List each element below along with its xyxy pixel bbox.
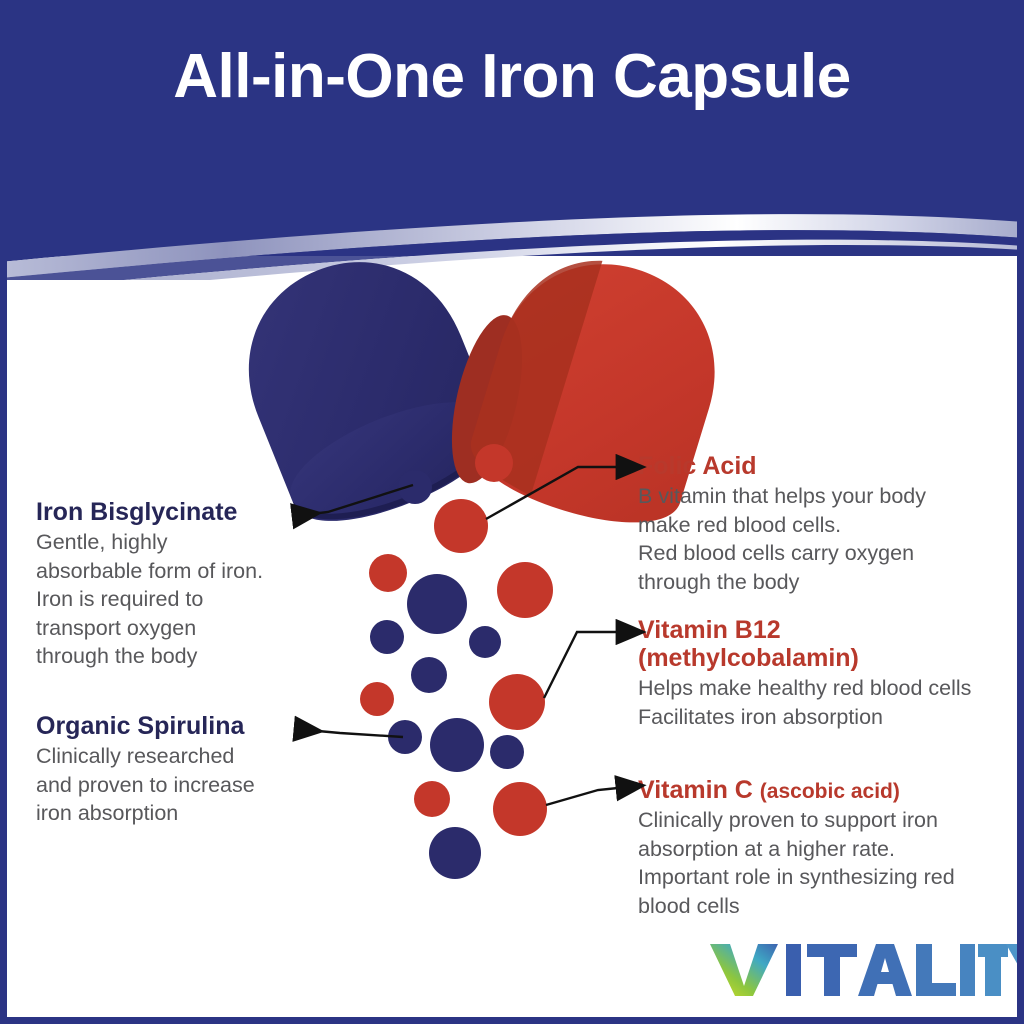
- infographic-root: All-in-One Iron Capsule: [0, 0, 1024, 1024]
- vitality-y-and-trademark: R: [1006, 938, 1024, 1000]
- vitality-wordmark: [708, 938, 1008, 1000]
- arrow-vitamin-c: [546, 788, 618, 805]
- callout-arrows: [0, 0, 1024, 1024]
- vitality-logo: R: [708, 938, 1024, 1000]
- arrow-organic-spirulina: [296, 729, 403, 737]
- arrow-folic-acid: [486, 467, 618, 519]
- arrow-iron-bisglycinate: [294, 485, 413, 516]
- arrow-vitamin-b12: [544, 632, 618, 698]
